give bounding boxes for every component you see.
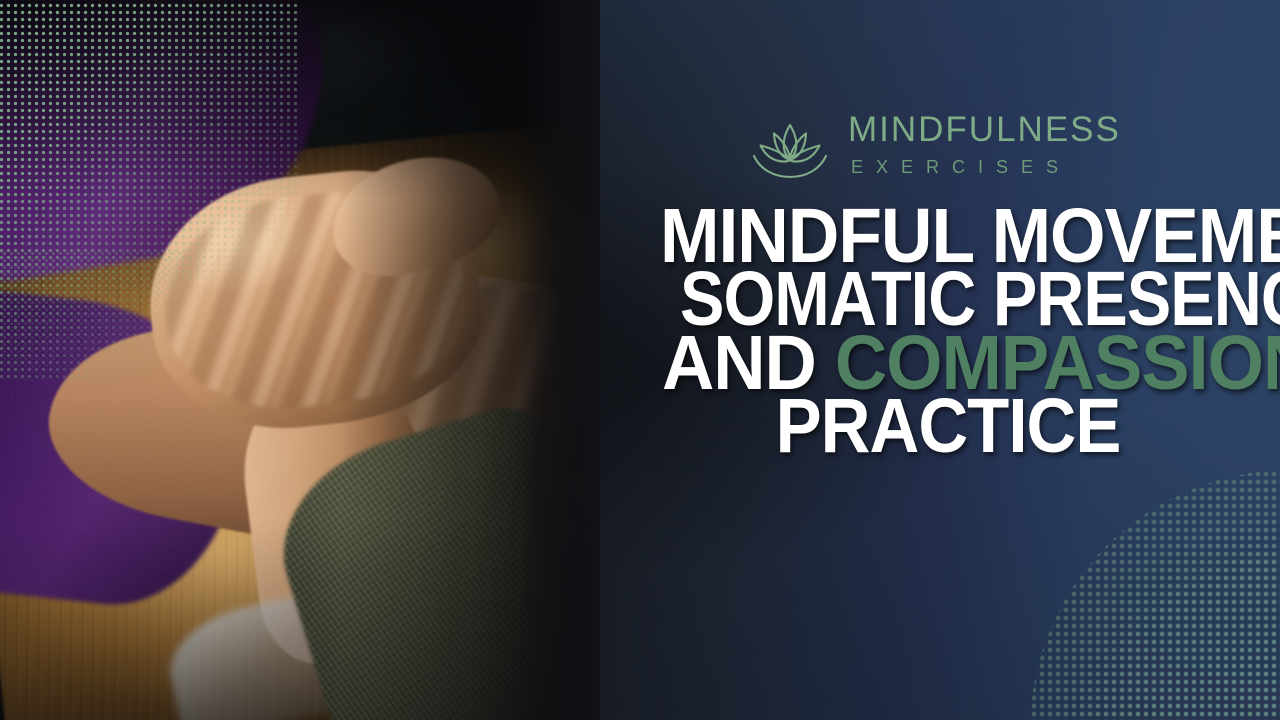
photo-color-grade (0, 0, 600, 720)
lotus-flower-icon (748, 108, 832, 180)
headline-block: MINDFUL MOVEMENT, SOMATIC PRESENCE, AND … (660, 206, 1256, 455)
brand-tagline: EXERCISES (851, 158, 1121, 176)
hero-photo-canvas (0, 0, 600, 720)
photo-edge-feather (520, 0, 600, 720)
promo-banner: MINDFULNESS EXERCISES MINDFUL MOVEMENT, … (0, 0, 1280, 720)
hero-photo (0, 0, 600, 720)
headline-line-4: PRACTICE (660, 392, 1236, 458)
brand-name: MINDFULNESS (848, 112, 1121, 147)
brand-logo[interactable]: MINDFULNESS EXERCISES (748, 98, 1128, 190)
brand-logo-text: MINDFULNESS EXERCISES (848, 112, 1121, 176)
